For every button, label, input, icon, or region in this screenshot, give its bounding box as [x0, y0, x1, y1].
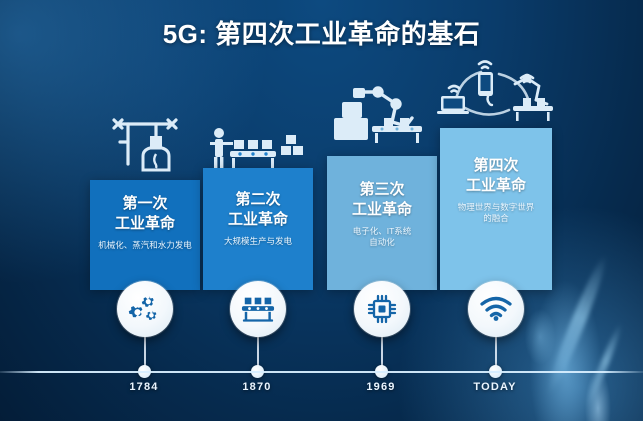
timeline-year-4: TODAY — [450, 381, 540, 393]
revolution-title-line2: 工业革命 — [440, 176, 552, 196]
wifi-signal-icon[interactable] — [468, 281, 524, 337]
timeline-axis — [0, 371, 643, 373]
conveyor-belt-icon[interactable] — [230, 281, 286, 337]
revolution-panel-2[interactable]: 第二次 工业革命 大规模生产与发电 — [203, 168, 313, 290]
gears-icon[interactable] — [117, 281, 173, 337]
revolution-subtitle: 大规模生产与发电 — [203, 236, 313, 247]
microchip-icon[interactable] — [354, 281, 410, 337]
revolution-title-line1: 第二次 — [203, 168, 313, 210]
revolutions-chart: 第一次 工业革命 机械化、蒸汽和水力发电 1784 — [0, 0, 643, 421]
iot-connectivity-icon — [432, 54, 557, 128]
revolution-title-line2: 工业革命 — [90, 214, 200, 234]
revolution-title-line2: 工业革命 — [327, 200, 437, 220]
revolution-title-line1: 第一次 — [90, 180, 200, 214]
revolution-subtitle: 物理世界与数字世界 的融合 — [440, 202, 552, 224]
timeline-year-2: 1870 — [212, 381, 302, 393]
robot-arm-icon — [316, 80, 431, 152]
page-title: 5G: 第四次工业革命的基石 — [0, 14, 643, 51]
revolution-panel-1[interactable]: 第一次 工业革命 机械化、蒸汽和水力发电 — [90, 180, 200, 290]
revolution-title-line1: 第三次 — [327, 156, 437, 200]
revolution-title-line1: 第四次 — [440, 128, 552, 176]
revolution-panel-3[interactable]: 第三次 工业革命 电子化、IT系统 自动化 — [327, 156, 437, 290]
steam-engine-icon — [90, 112, 200, 172]
revolution-panel-4[interactable]: 第四次 工业革命 物理世界与数字世界 的融合 — [440, 128, 552, 290]
revolution-subtitle: 机械化、蒸汽和水力发电 — [90, 240, 200, 251]
revolution-title-line2: 工业革命 — [203, 210, 313, 230]
timeline-year-1: 1784 — [99, 381, 189, 393]
revolution-subtitle: 电子化、IT系统 自动化 — [327, 226, 437, 248]
timeline-year-3: 1969 — [336, 381, 426, 393]
